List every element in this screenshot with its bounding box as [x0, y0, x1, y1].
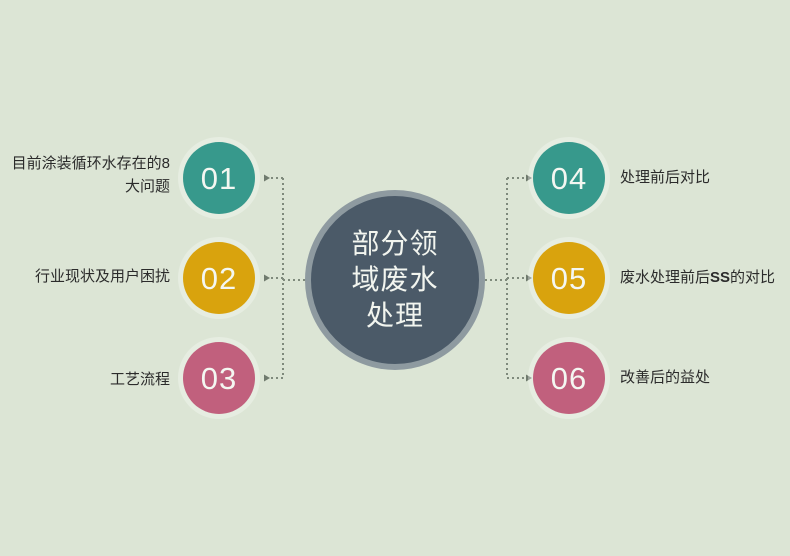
- connector-right-group: [485, 178, 526, 378]
- connector-left-group: [264, 178, 305, 378]
- node-number-06: 06: [551, 363, 587, 394]
- node-caption-04: 处理前后对比: [620, 166, 790, 189]
- node-caption-01: 目前涂装循环水存在的8大问题: [0, 152, 170, 199]
- node-caption-05-prefix: 废水处理前后: [620, 269, 710, 286]
- node-caption-05: 废水处理前后SS的对比: [620, 266, 790, 289]
- node-number-01: 01: [201, 163, 237, 194]
- node-number-02: 02: [201, 263, 237, 294]
- node-caption-05-suffix: 的对比: [730, 269, 775, 286]
- node-caption-03: 工艺流程: [0, 368, 170, 391]
- node-circle-05[interactable]: 05: [533, 242, 605, 314]
- node-circle-06[interactable]: 06: [533, 342, 605, 414]
- node-number-03: 03: [201, 363, 237, 394]
- diagram-canvas: 部分领 域废水 处理 01 目前涂装循环水存在的8大问题 02 行业现状及用户困…: [0, 0, 790, 556]
- center-topic-circle[interactable]: 部分领 域废水 处理: [305, 190, 485, 370]
- node-circle-01[interactable]: 01: [183, 142, 255, 214]
- node-caption-02: 行业现状及用户困扰: [0, 265, 170, 288]
- node-circle-03[interactable]: 03: [183, 342, 255, 414]
- node-number-05: 05: [551, 263, 587, 294]
- node-number-04: 04: [551, 163, 587, 194]
- center-topic-label: 部分领 域废水 处理: [335, 226, 455, 333]
- node-caption-06: 改善后的益处: [620, 366, 790, 389]
- node-caption-05-emphasis: SS: [710, 269, 730, 286]
- node-circle-04[interactable]: 04: [533, 142, 605, 214]
- node-circle-02[interactable]: 02: [183, 242, 255, 314]
